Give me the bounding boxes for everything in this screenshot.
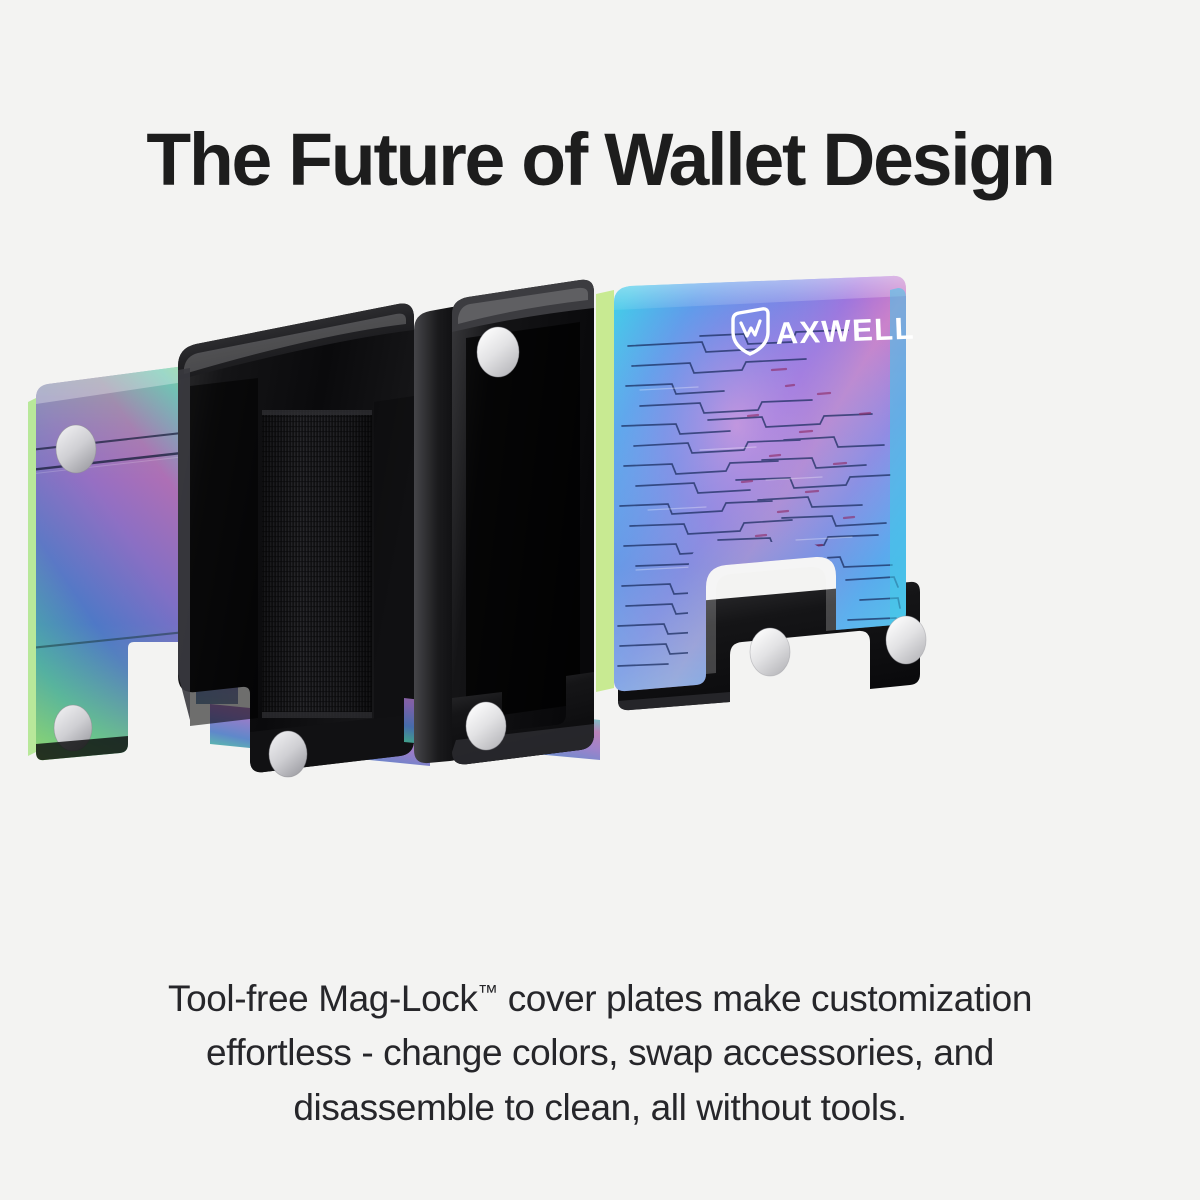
caption-text: Tool-free Mag-Lock™ cover plates make cu… xyxy=(65,966,1135,1136)
elastic-strap-shading xyxy=(262,410,372,718)
inner-frame-cavity xyxy=(466,322,580,720)
caption-line-3: disassemble to clean, all without tools. xyxy=(65,1080,1135,1135)
wallet-layer-inner-frame xyxy=(404,279,600,764)
front-plate-side-edge xyxy=(596,290,614,692)
brand-wordmark: AXWELL xyxy=(775,310,916,350)
caption-line-1: Tool-free Mag-Lock™ cover plates make cu… xyxy=(65,966,1135,1026)
product-poster: The Future of Wallet Design xyxy=(0,0,1200,1200)
page-title: The Future of Wallet Design xyxy=(56,118,1145,202)
elastic-strap xyxy=(262,410,372,718)
card-body-right-lip xyxy=(374,396,414,730)
caption-line-1-before: Tool-free Mag-Lock xyxy=(168,977,478,1018)
caption-line-2: effortless - change colors, swap accesso… xyxy=(65,1025,1135,1080)
exploded-wallet-illustration: AXWELL xyxy=(0,274,1200,874)
rear-plate-side-edge xyxy=(28,398,36,756)
caption-line-1-after: cover plates make customization xyxy=(498,977,1032,1018)
wallet-layer-card-body xyxy=(178,303,430,776)
card-body-left-edge xyxy=(178,368,190,720)
card-body-inner-shadow xyxy=(190,378,258,726)
trademark-symbol: ™ xyxy=(477,982,497,1004)
elastic-strap-top-hem xyxy=(262,410,372,415)
product-image: AXWELL xyxy=(0,274,1200,874)
wallet-layer-front-cover-plate: AXWELL xyxy=(596,276,926,710)
elastic-strap-bottom-hem xyxy=(262,712,372,718)
